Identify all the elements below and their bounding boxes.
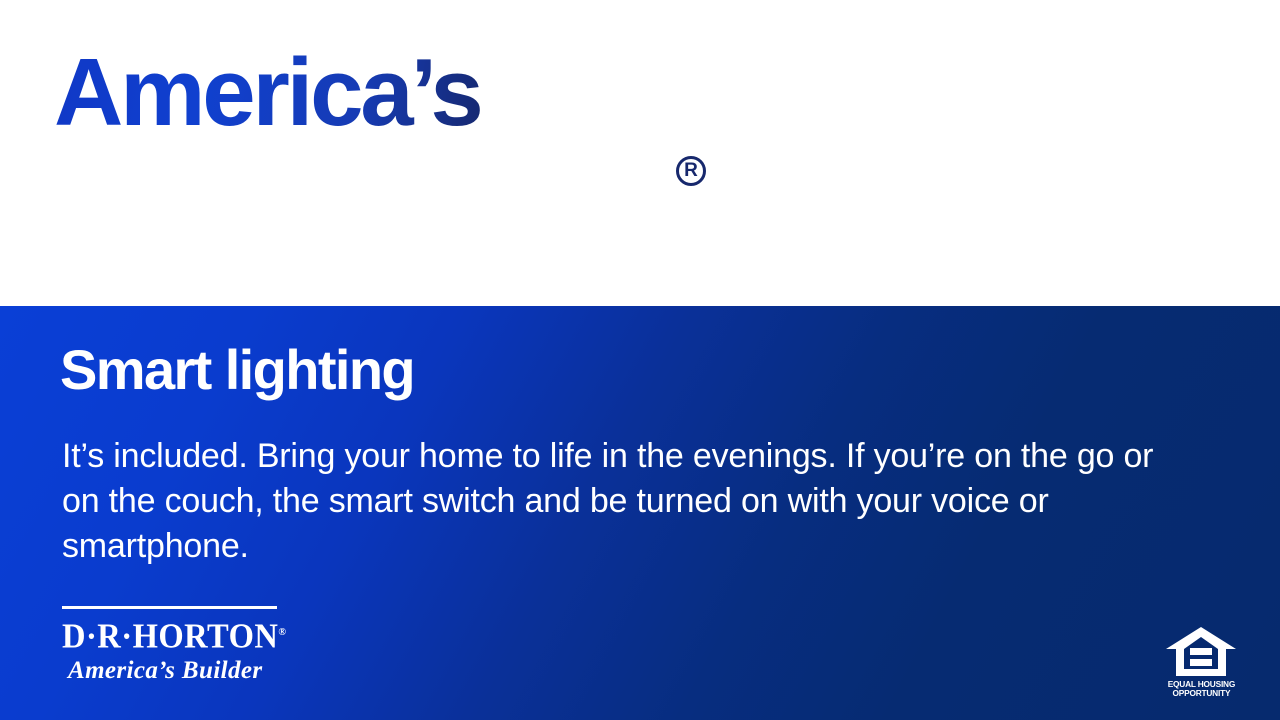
equal-housing-text: EQUAL HOUSING OPPORTUNITY — [1167, 680, 1234, 698]
hero-wordmark-line1: America’s — [54, 39, 481, 146]
equal-housing-line1: EQUAL HOUSING — [1167, 680, 1234, 689]
body-copy: It’s included. Bring your home to life i… — [62, 434, 1170, 569]
marketing-slide: America’ssmart home R Smart lighting It’… — [0, 0, 1280, 720]
hero-wordmark: America’ssmart home — [54, 46, 566, 234]
hero-wordmark-line2: smart home — [54, 140, 566, 234]
registered-trademark-icon: R — [676, 156, 706, 186]
dr-horton-name-text: D·R·HORTON — [62, 617, 278, 656]
dr-horton-registered-icon: ® — [278, 626, 286, 638]
content-panel: Smart lighting It’s included. Bring your… — [0, 306, 1280, 720]
equal-housing-house-icon — [1164, 626, 1238, 678]
hero-section: America’ssmart home R — [0, 0, 1280, 306]
dr-horton-logo: D·R·HORTON® America’s Builder — [62, 606, 280, 686]
dr-horton-wordmark: D·R·HORTON® — [62, 614, 265, 655]
dr-horton-tagline: America’s Builder — [68, 656, 280, 686]
page-title: Smart lighting — [60, 342, 414, 398]
equal-housing-line2: OPPORTUNITY — [1167, 689, 1234, 698]
equal-housing-opportunity-logo: EQUAL HOUSING OPPORTUNITY — [1160, 626, 1242, 698]
logo-rule-divider — [62, 606, 277, 609]
